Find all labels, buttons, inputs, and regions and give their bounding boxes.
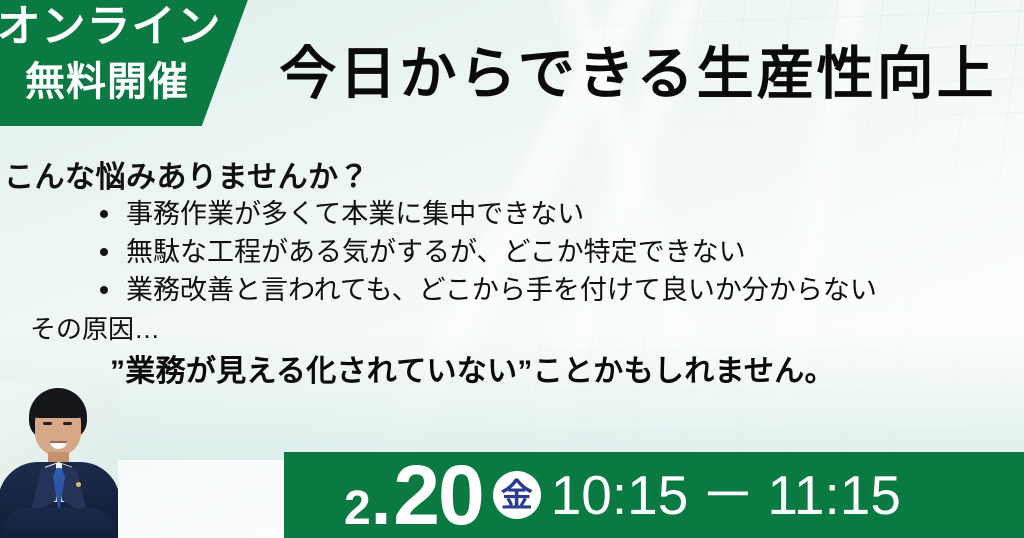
- cause-label: その原因…: [30, 312, 160, 346]
- list-item: 無駄な工程がある気がするが、どこか特定できない: [96, 233, 877, 271]
- list-item: 業務改善と言われても、どこから手を付けて良いか分からない: [96, 271, 877, 309]
- event-end-time: 11:15: [767, 464, 901, 526]
- online-free-ribbon: オンライン 無料開催: [0, 0, 250, 126]
- presenter-photo: [0, 382, 118, 538]
- event-month: 2: [344, 485, 370, 533]
- page-title: 今日からできる生産性向上: [268, 36, 1008, 112]
- bullet-dot-icon: [100, 210, 108, 218]
- event-start-time: 10:15: [551, 464, 689, 526]
- background-soft-band: [0, 330, 1024, 460]
- bullet-dot-icon: [100, 248, 108, 256]
- ribbon-line-free: 無料開催: [25, 56, 189, 108]
- presenter-folded-arms: [2, 508, 116, 538]
- pain-point-list: 事務作業が多くて本業に集中できない 無駄な工程がある気がするが、どこか特定できな…: [96, 195, 877, 309]
- event-time-range: 10:15－11:15: [551, 468, 901, 523]
- day-of-week-badge: 金: [493, 471, 541, 519]
- list-item: 事務作業が多くて本業に集中できない: [96, 195, 877, 233]
- list-item-label: 事務作業が多くて本業に集中できない: [126, 199, 584, 229]
- list-item-label: 業務改善と言われても、どこから手を付けて良いか分からない: [126, 275, 877, 305]
- bullet-dot-icon: [100, 286, 108, 294]
- schedule-bar: 2 . 20 金 10:15－11:15: [284, 452, 1024, 538]
- ribbon-line-online: オンライン: [0, 0, 222, 56]
- presenter-eye-left: [43, 422, 52, 425]
- punchline-text: ”業務が見える化されていない”ことかもしれません。: [110, 352, 835, 392]
- time-range-separator: －: [700, 464, 755, 526]
- presenter-lapel-pin: [76, 482, 81, 487]
- day-of-week-label: 金: [501, 479, 533, 511]
- presenter-eye-right: [63, 422, 72, 425]
- date-group: 2 . 20: [344, 453, 483, 537]
- lead-question: こんな悩みありませんか？: [4, 152, 369, 196]
- seminar-banner: オンライン 無料開催 今日からできる生産性向上 こんな悩みありませんか？ 事務作…: [0, 0, 1024, 538]
- list-item-label: 無駄な工程がある気がするが、どこか特定できない: [126, 237, 746, 267]
- presenter-fringe: [31, 396, 85, 418]
- date-separator: .: [371, 462, 392, 536]
- event-day: 20: [393, 453, 482, 537]
